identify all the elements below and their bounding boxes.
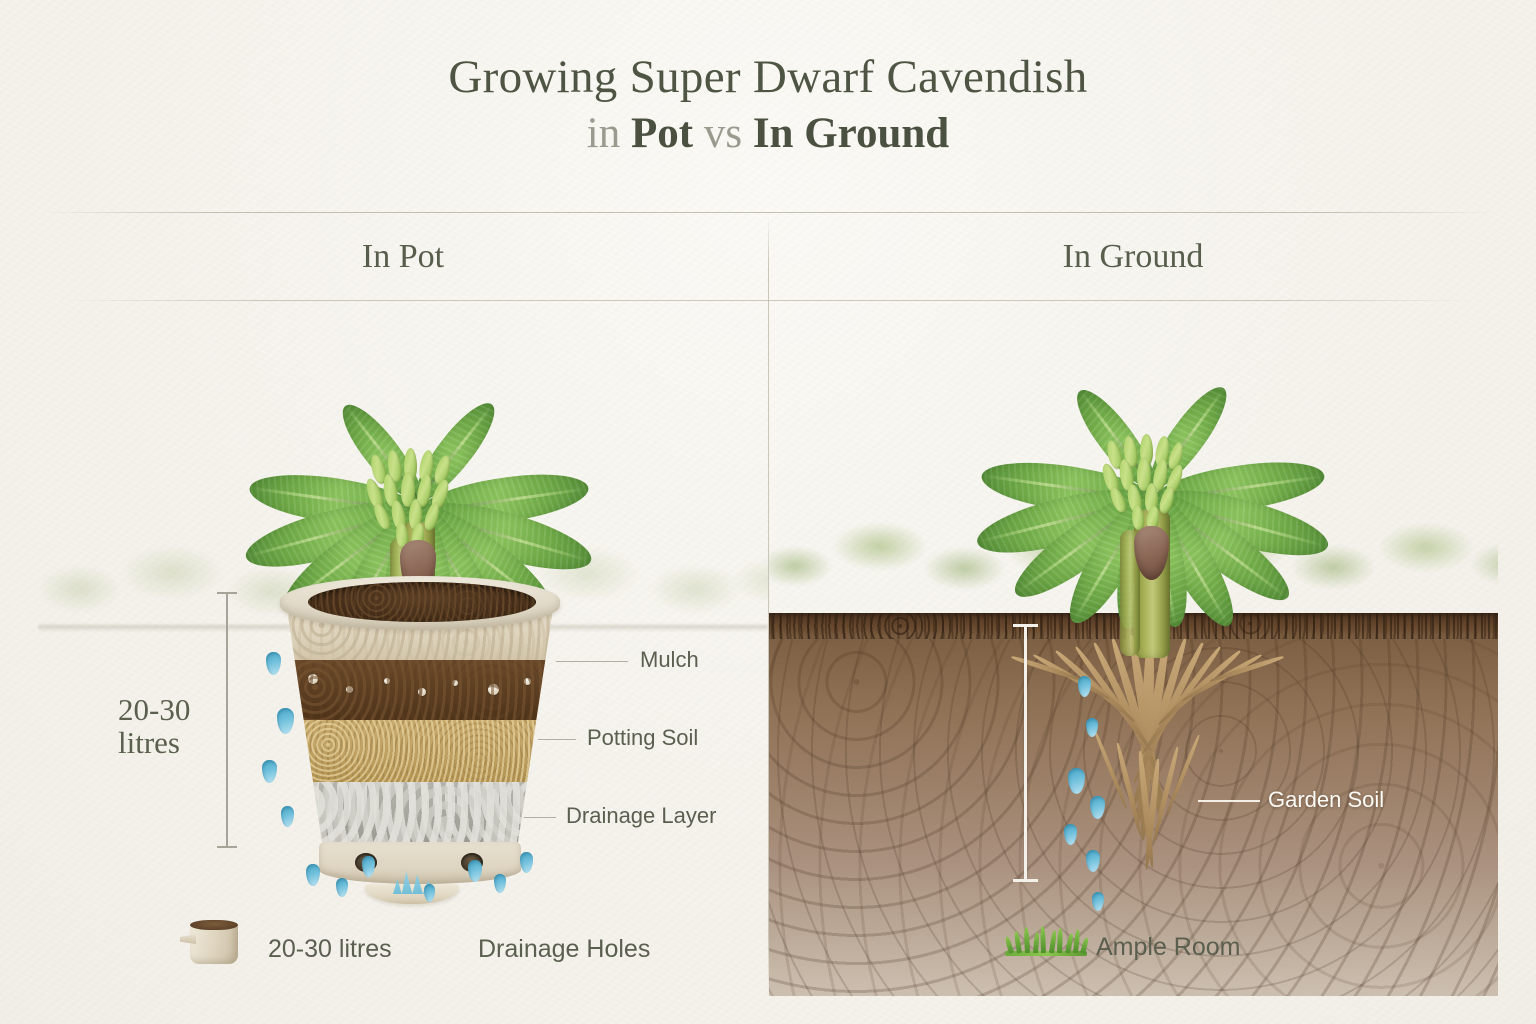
title-line-1: Growing Super Dwarf Cavendish xyxy=(0,50,1536,105)
pot-cross-section xyxy=(286,602,554,852)
layer-drainage-pebbles xyxy=(286,782,554,844)
perlite-speck xyxy=(308,674,318,684)
layer-coarse-sand xyxy=(286,720,554,782)
layer-potting-soil xyxy=(286,660,554,720)
perlite-speck xyxy=(418,688,426,696)
title-word-in: in xyxy=(587,110,620,157)
perlite-speck xyxy=(524,678,531,685)
watering-can-opening xyxy=(190,920,238,930)
plant-pot xyxy=(286,576,554,872)
title-word-pot: Pot xyxy=(631,110,693,157)
bottom-label-ample-room: Ample Room xyxy=(1096,933,1241,962)
perlite-speck xyxy=(346,686,353,693)
callout-garden-soil: Garden Soil xyxy=(1268,787,1384,813)
perlite-speck xyxy=(384,678,390,684)
bottom-label-drainage-holes: Drainage Holes xyxy=(478,935,650,964)
leader-line-garden-soil xyxy=(1198,800,1260,802)
watering-can-icon xyxy=(180,918,238,964)
leader-line-drainage-layer xyxy=(524,817,556,818)
perlite-speck xyxy=(452,680,458,686)
bottom-label-volume: 20-30 litres xyxy=(268,935,392,964)
pot-top-soil-surface xyxy=(308,582,536,622)
banana-bunch xyxy=(1102,436,1202,536)
pot-volume-bracket xyxy=(226,592,228,848)
watering-can-spout xyxy=(180,934,196,944)
perlite-speck xyxy=(488,684,499,695)
title-line-2: in Pot vs In Ground xyxy=(0,105,1536,163)
pot-volume-unit: litres xyxy=(118,727,222,760)
leader-line-mulch xyxy=(556,661,628,662)
root-depth-bracket xyxy=(1024,624,1027,882)
grass-tuft-icon xyxy=(1005,926,1087,956)
callout-mulch: Mulch xyxy=(640,647,699,673)
infographic-canvas: Growing Super Dwarf Cavendish in Pot vs … xyxy=(0,0,1536,1024)
pot-volume-value: 20-30 xyxy=(118,694,222,727)
callout-potting-soil: Potting Soil xyxy=(587,725,698,751)
title-word-in-ground: In Ground xyxy=(753,110,949,157)
page-title: Growing Super Dwarf Cavendish in Pot vs … xyxy=(0,50,1536,164)
callout-drainage-layer: Drainage Layer xyxy=(566,803,716,829)
pot-volume-label: 20-30 litres xyxy=(118,694,222,759)
watering-can-body xyxy=(190,924,238,964)
title-word-vs: vs xyxy=(704,110,742,157)
banana-bunch xyxy=(366,450,470,554)
pot-base xyxy=(319,842,521,884)
leader-line-potting-soil xyxy=(538,739,576,740)
